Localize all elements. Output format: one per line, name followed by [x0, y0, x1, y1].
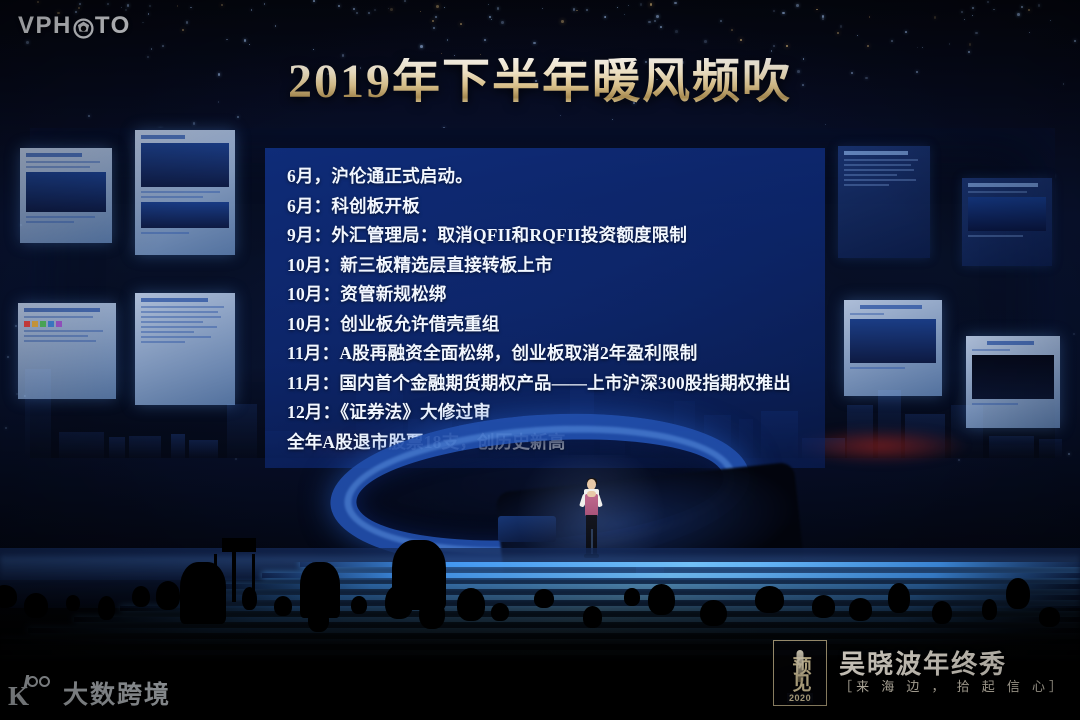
ceiling-light-dot [949, 43, 950, 44]
ceiling-light-dot [975, 32, 978, 35]
ceiling-light-dot [1050, 20, 1052, 22]
ceiling-light-dot [654, 20, 656, 22]
camera-tripod-silhouette [232, 546, 236, 602]
ceiling-light-dot [650, 3, 653, 6]
audience-head [624, 588, 640, 606]
ceiling-light-dot [533, 42, 536, 45]
ceiling-light-dot [628, 5, 629, 6]
ceiling-light-dot [922, 47, 923, 48]
slide-bullet-line: 10月：新三板精选层直接转板上市 [287, 251, 805, 281]
ceiling-light-dot [435, 16, 438, 19]
audience-foreground-figure [300, 562, 340, 618]
ceiling-light-dot [249, 44, 251, 46]
ceiling-light-dot [869, 16, 871, 18]
stage-photo: 2019年下半年暖风频吹 6月，沪伦通正式启动。6月：科创板开板9月：外汇管理局… [0, 0, 1080, 720]
screen-doc-panel [844, 300, 942, 396]
ceiling-light-dot [905, 31, 907, 33]
ceiling-light-dot [78, 7, 81, 10]
ceiling-light-dot [251, 9, 252, 10]
ceiling-light-dot [674, 2, 677, 5]
ceiling-light-dot [79, 3, 81, 5]
slide-bullet-line: 9月：外汇管理局：取消QFII和RQFII投资额度限制 [287, 221, 805, 251]
ceiling-light-dot [353, 8, 355, 10]
ceiling-light-dot [1073, 333, 1075, 335]
ceiling-light-dot [182, 29, 185, 32]
ceiling-light-dot [612, 119, 613, 120]
ceiling-light-dot [221, 4, 223, 6]
screen-building-shape [189, 440, 218, 458]
ceiling-light-dot [972, 15, 973, 16]
audience-head [648, 584, 675, 615]
ceiling-light-dot [433, 27, 435, 29]
ceiling-light-dot [825, 124, 826, 125]
camera-tripod-silhouette [214, 554, 217, 602]
ceiling-light-dot [460, 23, 462, 25]
ceiling-light-dot [1068, 453, 1070, 455]
audience-head [755, 586, 783, 613]
ceiling-light-dot [37, 1, 39, 3]
ceiling-light-dot [121, 7, 122, 8]
ceiling-light-dot [88, 115, 90, 117]
screen-building-shape [227, 404, 257, 458]
screen-doc-panel [966, 336, 1060, 428]
audience-head [66, 595, 80, 611]
slide-bullet-line: 6月，沪伦通正式启动。 [287, 162, 805, 192]
ceiling-light-dot [560, 115, 561, 116]
ceiling-light-dot [675, 30, 678, 33]
ceiling-light-dot [720, 20, 722, 22]
ceiling-light-dot [867, 45, 869, 47]
slide-bullet-line: 11月：A股再融资全面松绑，创业板取消2年盈利限制 [287, 339, 805, 369]
audience-head [156, 581, 181, 610]
ceiling-light-dot [190, 7, 191, 8]
screen-doc-panel [135, 130, 235, 255]
ceiling-light-dot [127, 4, 130, 7]
ceiling-light-dot [542, 8, 544, 10]
seal-year: 2020 [787, 693, 813, 703]
ceiling-light-dot [969, 43, 972, 46]
ceiling-light-dot [186, 21, 189, 24]
ceiling-light-dot [586, 9, 589, 12]
ceiling-light-dot [5, 427, 7, 429]
audience-head [583, 606, 602, 628]
ceiling-light-dot [576, 10, 577, 11]
k100-logo-icon: K [8, 676, 56, 708]
ceiling-light-dot [313, 0, 315, 2]
ceiling-light-dot [390, 8, 393, 11]
audience-foreground-figure [392, 540, 446, 610]
ceiling-light-dot [961, 11, 963, 13]
ceiling-light-dot [796, 4, 799, 7]
slide-bullet-list: 6月，沪伦通正式启动。6月：科创板开板9月：外汇管理局：取消QFII和RQFII… [287, 162, 805, 457]
ceiling-light-dot [968, 51, 970, 53]
ceiling-light-dot [489, 16, 491, 18]
ceiling-light-dot [740, 39, 742, 41]
ceiling-light-dot [368, 12, 370, 14]
ceiling-light-dot [177, 5, 179, 7]
ceiling-light-dot [891, 40, 893, 42]
ceiling-light-dot [816, 9, 817, 10]
audience-head [1006, 578, 1030, 609]
ceiling-light-dot [484, 39, 486, 41]
ceiling-light-dot [731, 29, 733, 31]
ceiling-light-dot [491, 19, 492, 20]
ceiling-light-dot [857, 35, 859, 37]
ceiling-light-dot [432, 20, 435, 23]
ceiling-light-dot [660, 26, 662, 28]
ceiling-light-dot [604, 16, 606, 18]
ceiling-light-dot [149, 5, 151, 7]
ceiling-light-dot [338, 5, 340, 7]
audience-head [700, 600, 727, 627]
screen-building-shape [109, 437, 125, 458]
ceiling-light-dot [840, 25, 842, 27]
ceiling-light-dot [151, 48, 152, 49]
ceiling-light-dot [771, 50, 773, 52]
ceiling-light-dot [142, 22, 143, 23]
audience-head [888, 583, 910, 613]
ceiling-light-dot [773, 45, 774, 46]
ceiling-light-dot [704, 40, 707, 43]
slide-bullet-line: 11月：国内首个金融期货期权产品——上市沪深300股指期权推出 [287, 369, 805, 399]
audience-head [98, 596, 115, 620]
screen-building-shape [129, 436, 161, 458]
ceiling-light-dot [561, 20, 564, 23]
vphoto-watermark: VPH TO [18, 12, 131, 40]
ceiling-light-dot [420, 11, 421, 12]
ceiling-light-dot [1017, 13, 1020, 16]
ceiling-light-dot [162, 45, 164, 47]
audience-head [1039, 607, 1060, 627]
audience-head [0, 585, 17, 608]
ceiling-light-dot [444, 7, 445, 8]
stage-riser [498, 516, 556, 542]
ceiling-light-dot [837, 32, 839, 34]
screen-doc-panel [135, 293, 235, 405]
ceiling-light-dot [374, 9, 376, 11]
audience-head [24, 593, 47, 619]
ceiling-light-dot [987, 1, 990, 4]
yujian-2020-seal-icon: 预见 2020 [773, 640, 827, 706]
ceiling-light-dot [26, 41, 29, 44]
ceiling-light-dot [497, 7, 499, 9]
screen-building-shape [59, 432, 105, 458]
ceiling-light-dot [1021, 6, 1023, 8]
ceiling-light-dot [624, 14, 626, 16]
audience-head [534, 589, 554, 609]
ceiling-light-dot [356, 12, 358, 14]
audience-head [351, 596, 367, 614]
slide-bullet-line: 10月：资管新规松绑 [287, 280, 805, 310]
ceiling-light-dot [822, 18, 824, 20]
audience-head [491, 603, 509, 621]
ceiling-light-dot [1028, 9, 1030, 11]
ceiling-light-dot [617, 7, 618, 8]
ceiling-light-dot [420, 45, 423, 48]
screen-building-shape [989, 436, 1034, 458]
dashu-kuajing-watermark: K 大数跨境 [8, 676, 171, 708]
audience-head [812, 595, 835, 618]
screen-doc-panel [18, 303, 116, 399]
audience-foreground-figure [180, 562, 226, 624]
audience-head [132, 586, 150, 608]
ceiling-light-dot [226, 39, 227, 40]
ceiling-light-dot [237, 116, 239, 118]
ceiling-light-dot [656, 15, 659, 18]
ceiling-light-dot [15, 325, 17, 327]
ceiling-light-dot [193, 122, 196, 125]
ceiling-light-dot [786, 45, 789, 48]
audience-head [274, 596, 292, 616]
ceiling-light-dot [640, 3, 643, 6]
ceiling-light-dot [501, 21, 504, 24]
screen-doc-panel [20, 148, 112, 243]
ceiling-light-dot [773, 10, 775, 12]
ceiling-light-dot [1074, 40, 1076, 42]
audience-head [982, 599, 997, 620]
ceiling-light-dot [447, 39, 449, 41]
screen-doc-panel [838, 146, 930, 258]
dashu-kuajing-label: 大数跨境 [63, 682, 171, 708]
vphoto-wordmark-left: VPH [18, 12, 72, 40]
camera-tripod-silhouette [222, 538, 256, 552]
show-branding-watermark: 预见 2020 吴晓波年终秀 ［来 海 边 ， 拾 起 信 心］ [773, 640, 1066, 706]
vphoto-wordmark-right: TO [95, 12, 131, 40]
slide-bullet-line: 6月：科创板开板 [287, 192, 805, 222]
ceiling-light-dot [993, 9, 994, 10]
ceiling-light-dot [107, 3, 109, 5]
aperture-icon [73, 18, 94, 39]
ceiling-light-dot [404, 0, 406, 2]
ceiling-light-dot [1029, 32, 1030, 33]
ceiling-light-dot [648, 21, 651, 24]
screen-building-shape [171, 434, 186, 458]
ceiling-light-dot [934, 16, 936, 18]
show-subtitle: ［来 海 边 ， 拾 起 信 心］ [839, 681, 1066, 694]
audience-head [849, 598, 872, 621]
audience-head [457, 588, 486, 621]
camera-tripod-silhouette [252, 554, 255, 602]
ceiling-light-dot [917, 47, 918, 48]
audience-head [932, 601, 952, 624]
ceiling-light-dot [972, 7, 974, 9]
ceiling-light-dot [264, 3, 266, 5]
ceiling-light-dot [488, 4, 489, 5]
slide-bullet-line: 10月：创业板允许借壳重组 [287, 310, 805, 340]
ceiling-light-dot [148, 13, 150, 15]
ceiling-light-dot [244, 39, 247, 42]
ceiling-light-dot [313, 49, 314, 50]
ceiling-light-dot [782, 12, 785, 15]
show-title: 吴晓波年终秀 [839, 652, 1066, 679]
ceiling-light-dot [964, 19, 965, 20]
screen-doc-panel [962, 178, 1052, 266]
slide-title: 2019年下半年暖风频吹 [0, 58, 1080, 106]
ceiling-light-dot [235, 458, 237, 460]
ceiling-light-dot [436, 5, 439, 8]
ceiling-light-dot [7, 356, 9, 358]
ceiling-light-dot [1038, 4, 1041, 7]
screen-building-shape [1039, 439, 1063, 458]
ceiling-light-dot [275, 25, 276, 26]
ceiling-light-dot [573, 8, 575, 10]
